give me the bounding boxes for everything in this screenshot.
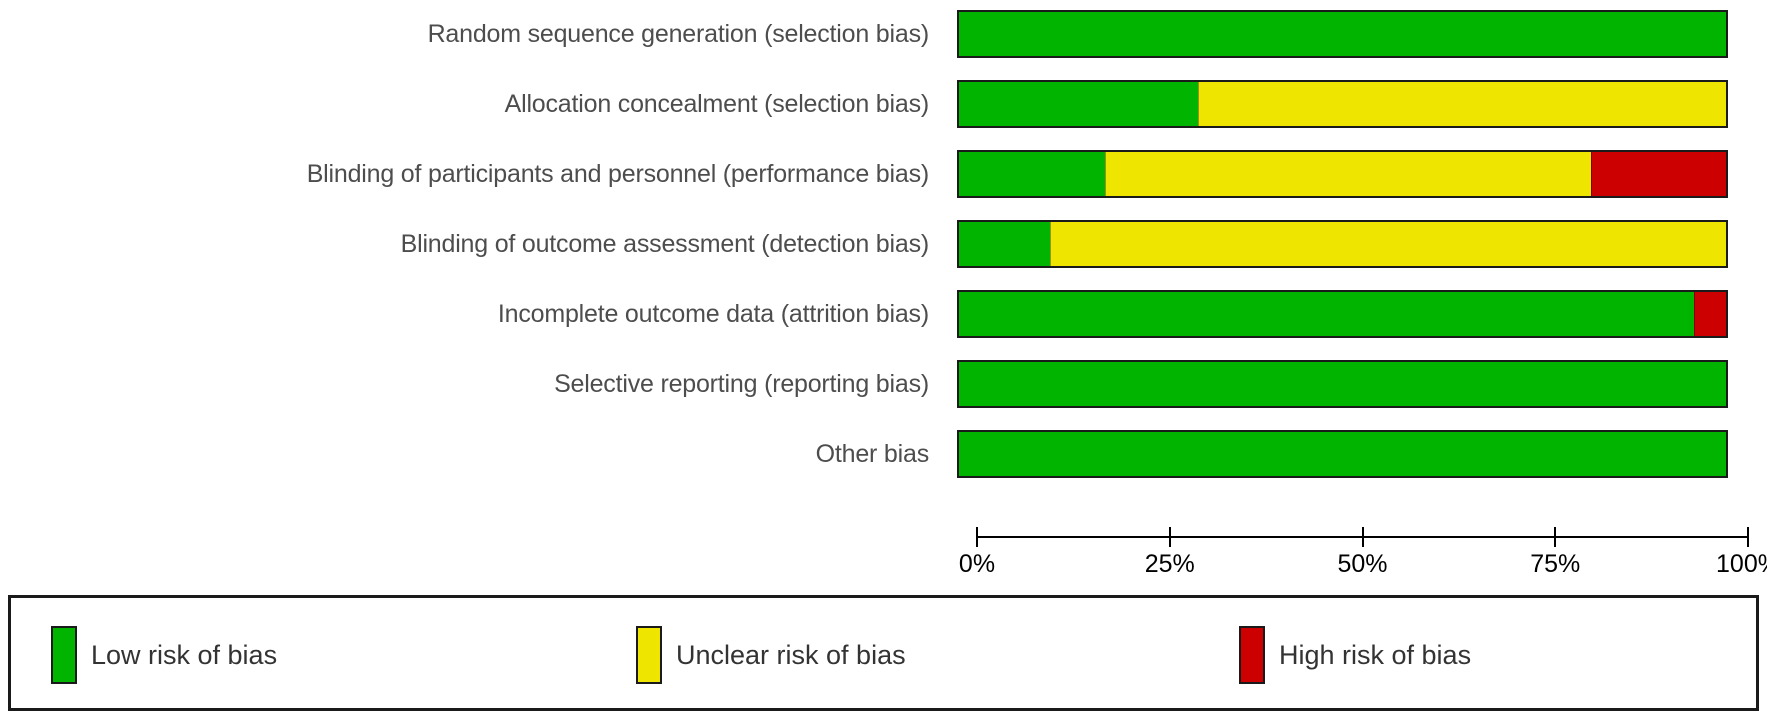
bias-domain-row: Selective reporting (reporting bias) xyxy=(0,360,1767,408)
bar-segment xyxy=(1198,82,1726,126)
bar-segment xyxy=(959,362,1726,406)
bias-domain-label: Blinding of participants and personnel (… xyxy=(0,159,957,189)
axis-tick-label: 0% xyxy=(959,550,995,578)
bar-segment xyxy=(959,12,1726,56)
stacked-bar xyxy=(957,10,1728,58)
legend-item: High risk of bias xyxy=(1239,624,1471,686)
bar-segment xyxy=(1105,152,1592,196)
stacked-bar xyxy=(957,80,1728,128)
axis-tick xyxy=(1362,527,1364,547)
bias-domain-label: Blinding of outcome assessment (detectio… xyxy=(0,229,957,259)
bar-segment xyxy=(1694,292,1726,336)
stacked-bar xyxy=(957,360,1728,408)
stacked-bar xyxy=(957,220,1728,268)
axis-tick-label: 75% xyxy=(1530,550,1580,578)
bias-domain-label: Random sequence generation (selection bi… xyxy=(0,19,957,49)
legend-label: High risk of bias xyxy=(1279,640,1471,670)
stacked-bar xyxy=(957,290,1728,338)
axis-tick-label: 100% xyxy=(1716,550,1767,578)
bar-segment xyxy=(959,82,1199,126)
bar-segment xyxy=(1591,152,1726,196)
bar-segment xyxy=(959,222,1051,266)
bias-domain-row: Blinding of participants and personnel (… xyxy=(0,150,1767,198)
legend-color-swatch xyxy=(636,626,662,684)
bar-segment xyxy=(959,292,1695,336)
legend-label: Unclear risk of bias xyxy=(676,640,906,670)
bar-segment xyxy=(1050,222,1726,266)
axis-tick xyxy=(1169,527,1171,547)
bias-domain-label: Allocation concealment (selection bias) xyxy=(0,89,957,119)
bias-domain-label: Selective reporting (reporting bias) xyxy=(0,369,957,399)
stacked-bar xyxy=(957,150,1728,198)
bar-segment xyxy=(959,152,1106,196)
axis-tick xyxy=(1747,527,1749,547)
stacked-bar xyxy=(957,430,1728,478)
bar-segment xyxy=(959,432,1726,476)
bias-domain-row: Allocation concealment (selection bias) xyxy=(0,80,1767,128)
axis-tick xyxy=(976,527,978,547)
chart-legend: Low risk of biasUnclear risk of biasHigh… xyxy=(8,595,1759,711)
legend-label: Low risk of bias xyxy=(91,640,277,670)
legend-color-swatch xyxy=(1239,626,1265,684)
bar-chart-plot-area: Random sequence generation (selection bi… xyxy=(0,0,1767,578)
bias-domain-row: Incomplete outcome data (attrition bias) xyxy=(0,290,1767,338)
legend-item: Unclear risk of bias xyxy=(636,624,906,686)
x-axis: 0%25%50%75%100% xyxy=(977,536,1748,538)
axis-tick-label: 50% xyxy=(1337,550,1387,578)
legend-item: Low risk of bias xyxy=(51,624,277,686)
risk-of-bias-graph: Random sequence generation (selection bi… xyxy=(0,0,1767,721)
bias-domain-label: Incomplete outcome data (attrition bias) xyxy=(0,299,957,329)
bias-domain-label: Other bias xyxy=(0,439,957,469)
axis-tick xyxy=(1554,527,1556,547)
bias-domain-row: Random sequence generation (selection bi… xyxy=(0,10,1767,58)
legend-color-swatch xyxy=(51,626,77,684)
bias-domain-row: Other bias xyxy=(0,430,1767,478)
axis-tick-label: 25% xyxy=(1145,550,1195,578)
bias-domain-row: Blinding of outcome assessment (detectio… xyxy=(0,220,1767,268)
